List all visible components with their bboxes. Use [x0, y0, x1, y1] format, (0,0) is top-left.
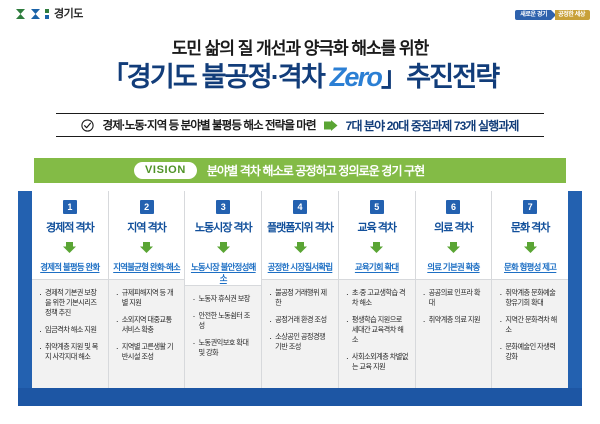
- down-arrow-icon: [370, 240, 383, 258]
- task-item: 안전한 노동쉼터 조성: [192, 311, 255, 331]
- column-task-list: 경제적 기본권 보장을 위한 기본시리즈 정책 추진임금격차 해소 지원취약계층…: [32, 279, 108, 388]
- task-item: 문화예술인 자생력 강화: [499, 342, 562, 362]
- column-number-badge: 4: [293, 200, 307, 214]
- vision-bar: VISION 분야별 격차 해소로 공정하고 정의로운 경기 구현: [34, 158, 566, 183]
- column-task-list: 초·중 고교생학습 격차 해소평생학습 지원으로 세대간 교육격차 해소사회소외…: [339, 279, 415, 388]
- task-item: 지역별 고른생활 기반시설 조성: [116, 342, 179, 362]
- column-goal: 문화 형평성 제고: [501, 262, 559, 273]
- page-header: 경기도 새로운 경기 공정한 세상: [0, 0, 600, 30]
- task-item: 공공의료 인프라 확대: [423, 288, 486, 308]
- strategy-column-3: 3노동시장 격차노동시장 불안정성해소노동자 휴식권 보장안전한 노동쉼터 조성…: [185, 191, 262, 388]
- down-arrow-icon: [294, 240, 307, 258]
- strategy-column-1: 1경제적 격차경제적 불평등 완화경제적 기본권 보장을 위한 기본시리즈 정책…: [32, 191, 109, 388]
- task-item: 불공정 거래행위 제한: [269, 288, 332, 308]
- column-title: 교육 격차: [357, 219, 396, 235]
- title-superline: 도민 삶의 질 개선과 양극화 해소를 위한: [0, 40, 600, 59]
- column-task-list: 규제피해지역 등 개별 지원소외지역 대중교통 서비스 확충지역별 고른생활 기…: [109, 279, 185, 388]
- task-item: 취약계층 문화예술 향유기회 확대: [499, 288, 562, 308]
- gyeonggi-chevron-logo-icon: [16, 9, 50, 20]
- strategy-panel: 1경제적 격차경제적 불평등 완화경제적 기본권 보장을 위한 기본시리즈 정책…: [18, 191, 582, 406]
- column-task-list: 공공의료 인프라 확대취약계층 의료 지원: [416, 279, 492, 388]
- subtitle-right-text: 7대 분야 20대 중점과제 73개 실행과제: [346, 117, 519, 134]
- column-task-list: 불공정 거래행위 제한공정거래 환경 조성소상공인 공정경쟁 기반 조성: [262, 279, 338, 388]
- bracket-close: 」: [381, 62, 406, 92]
- vision-statement: 분야별 격차 해소로 공정하고 정의로운 경기 구현: [207, 162, 424, 179]
- down-arrow-icon: [447, 240, 460, 258]
- strategy-columns: 1경제적 격차경제적 불평등 완화경제적 기본권 보장을 위한 기본시리즈 정책…: [32, 191, 568, 388]
- task-item: 소외지역 대중교통 서비스 확충: [116, 315, 179, 335]
- column-goal: 경제적 불평등 완화: [37, 262, 102, 273]
- column-goal: 공정한 시장질서확립: [265, 262, 336, 273]
- task-item: 소상공인 공정경쟁 기반 조성: [269, 332, 332, 352]
- down-arrow-icon: [524, 240, 537, 258]
- column-number-badge: 5: [370, 200, 384, 214]
- column-goal: 교육기회 확대: [352, 262, 402, 273]
- task-item: 규제피해지역 등 개별 지원: [116, 288, 179, 308]
- task-item: 공정거래 환경 조성: [269, 315, 332, 325]
- title-main-suffix: 추진전략: [406, 62, 498, 92]
- strategy-column-2: 2지역 격차지역불균형 완화·해소규제피해지역 등 개별 지원소외지역 대중교통…: [109, 191, 186, 388]
- title-main-prefix: 경기도 불공정·격차: [127, 62, 330, 92]
- column-title: 플랫폼지위 격차: [267, 219, 333, 235]
- strategy-column-6: 6의료 격차의료 기본권 확충공공의료 인프라 확대취약계층 의료 지원: [416, 191, 493, 388]
- page-title: 「경기도 불공정·격차 Zero」추진전략: [0, 62, 600, 93]
- subtitle-strip: 경제·노동·지역 등 분야별 불평등 해소 전략을 마련 7대 분야 20대 중…: [56, 113, 544, 137]
- task-item: 지역간 문화격차 해소: [499, 315, 562, 335]
- province-slogan-badge: 새로운 경기 공정한 세상: [515, 10, 590, 20]
- task-item: 노동권익보호 확대 및 강화: [192, 338, 255, 358]
- column-number-badge: 3: [216, 200, 230, 214]
- title-zero-word: Zero: [330, 62, 381, 92]
- panel-bottom-accent-bar: [18, 388, 582, 406]
- task-item: 취약계층 지원 및 복지 사각지대 해소: [39, 342, 102, 362]
- column-goal: 지역불균형 완화·해소: [110, 262, 183, 273]
- column-title: 경제적 격차: [46, 219, 94, 235]
- task-item: 노동자 휴식권 보장: [192, 294, 255, 304]
- column-task-list: 노동자 휴식권 보장안전한 노동쉼터 조성노동권익보호 확대 및 강화: [185, 285, 261, 388]
- strategy-column-5: 5교육 격차교육기회 확대초·중 고교생학습 격차 해소평생학습 지원으로 세대…: [339, 191, 416, 388]
- right-arrow-icon: [324, 120, 338, 131]
- task-item: 초·중 고교생학습 격차 해소: [346, 288, 409, 308]
- slogan-primary: 새로운 경기: [515, 10, 551, 20]
- panel-left-accent-bar: [18, 191, 32, 406]
- gyeonggi-logo: 경기도: [16, 9, 83, 20]
- column-number-badge: 6: [446, 200, 460, 214]
- strategy-column-4: 4플랫폼지위 격차공정한 시장질서확립불공정 거래행위 제한공정거래 환경 조성…: [262, 191, 339, 388]
- column-number-badge: 1: [63, 200, 77, 214]
- task-item: 경제적 기본권 보장을 위한 기본시리즈 정책 추진: [39, 288, 102, 318]
- task-item: 평생학습 지원으로 세대간 교육격차 해소: [346, 315, 409, 345]
- column-goal: 노동시장 불안정성해소: [185, 262, 261, 285]
- column-number-badge: 7: [523, 200, 537, 214]
- column-title: 의료 격차: [434, 219, 473, 235]
- down-arrow-icon: [63, 240, 76, 258]
- task-item: 사회소외계층 차별없는 교육 지원: [346, 352, 409, 372]
- slogan-secondary: 공정한 세상: [555, 10, 590, 20]
- column-task-list: 취약계층 문화예술 향유기회 확대지역간 문화격차 해소문화예술인 자생력 강화: [492, 279, 568, 388]
- check-circle-icon: [81, 119, 94, 132]
- subtitle-left-text: 경제·노동·지역 등 분야별 불평등 해소 전략을 마련: [102, 117, 315, 133]
- bracket-open: 「: [102, 62, 127, 92]
- column-goal: 의료 기본권 확충: [424, 262, 482, 273]
- column-number-badge: 2: [140, 200, 154, 214]
- task-item: 임금격차 해소 지원: [39, 325, 102, 335]
- task-item: 취약계층 의료 지원: [423, 315, 486, 325]
- down-arrow-icon: [217, 240, 230, 258]
- strategy-column-7: 7문화 격차문화 형평성 제고취약계층 문화예술 향유기회 확대지역간 문화격차…: [492, 191, 568, 388]
- logo-wordmark: 경기도: [54, 9, 83, 20]
- vision-chip-label: VISION: [134, 162, 197, 180]
- column-title: 문화 격차: [511, 219, 550, 235]
- column-title: 지역 격차: [127, 219, 166, 235]
- column-title: 노동시장 격차: [195, 219, 252, 235]
- down-arrow-icon: [140, 240, 153, 258]
- panel-right-accent-bar: [568, 191, 582, 406]
